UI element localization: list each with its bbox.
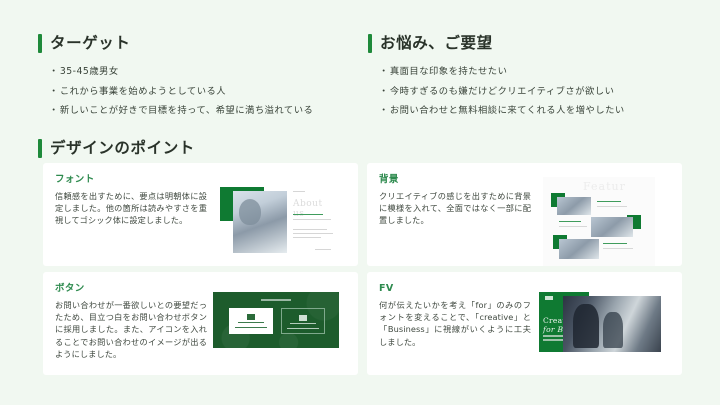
- card-title: FV: [379, 284, 531, 294]
- mockup-line: [238, 322, 264, 323]
- mockup-line: [315, 249, 331, 250]
- card-text-block: FV 何が伝えたいかを考え「for」のみのフォントを変えることで、「creati…: [379, 284, 531, 375]
- card-thumbnail: Featur: [535, 175, 682, 266]
- mockup-line: [597, 201, 621, 202]
- card-title: フォント: [55, 175, 207, 185]
- accent-bar-icon: [368, 34, 372, 53]
- mockup-line: [293, 237, 321, 238]
- design-points-title: デザインのポイント: [50, 141, 195, 157]
- card-body: 信頼感を出すために、要点は明朝体に設定しました。他の箇所は読みやすさを重視してゴ…: [55, 190, 207, 227]
- mockup-line: [287, 328, 319, 329]
- card-thumbnail: [211, 284, 358, 375]
- design-card-fv: FV 何が伝えたいかを考え「for」のみのフォントを変えることで、「creati…: [367, 272, 682, 375]
- feature-section-mockup-image: Featur: [543, 177, 655, 266]
- target-heading: ターゲット: [38, 34, 368, 53]
- target-title: ターゲット: [50, 36, 131, 52]
- mail-icon: [247, 314, 255, 320]
- mockup-line: [293, 214, 323, 215]
- mockup-line: [290, 323, 316, 324]
- mockup-photo: [563, 296, 661, 352]
- mockup-line: [261, 299, 291, 301]
- accent-bar-icon: [38, 139, 42, 158]
- mockup-line: [559, 226, 587, 227]
- concerns-heading: お悩み、ご要望: [368, 34, 686, 53]
- slide-canvas: ターゲット 35-45歳男女 これから事業を始めようとしている人 新しいことが好…: [0, 0, 720, 405]
- mockup-line: [559, 221, 581, 222]
- mockup-logo: [545, 296, 553, 300]
- card-text-block: フォント 信頼感を出すために、要点は明朝体に設定しました。他の箇所は読みやすさを…: [55, 175, 207, 266]
- first-view-mockup-image: Creative for Business: [535, 288, 663, 356]
- card-body: クリエイティブの感じを出すために背景に模様を入れて、全面ではなく一部に配置しまし…: [379, 190, 531, 227]
- design-card-font: フォント 信頼感を出すために、要点は明朝体に設定しました。他の箇所は読みやすさを…: [43, 163, 358, 266]
- about-us-mockup-image: About us: [215, 181, 337, 259]
- mockup-photo: [559, 239, 599, 259]
- mockup-heading-text: Featur: [583, 180, 626, 193]
- list-item: 35-45歳男女: [49, 66, 368, 79]
- mockup-photo: [591, 217, 633, 237]
- design-card-background: 背景 クリエイティブの感じを出すために背景に模様を入れて、全面ではなく一部に配置…: [367, 163, 682, 266]
- mockup-line: [603, 248, 633, 249]
- card-title: ボタン: [55, 284, 207, 294]
- top-sections: ターゲット 35-45歳男女 これから事業を始めようとしている人 新しいことが好…: [38, 34, 686, 125]
- mockup-line: [293, 233, 333, 234]
- mockup-line: [293, 219, 331, 220]
- accent-bar-icon: [38, 34, 42, 53]
- concerns-section: お悩み、ご要望 真面目な印象を持たせたい 今時すぎるのも嫌だけどクリエイティブさ…: [368, 34, 686, 125]
- mockup-line: [597, 206, 627, 207]
- list-item: これから事業を始めようとしている人: [49, 86, 368, 99]
- design-points-grid: フォント 信頼感を出すために、要点は明朝体に設定しました。他の箇所は読みやすさを…: [43, 163, 682, 375]
- card-thumbnail: Creative for Business: [535, 284, 682, 375]
- mockup-line: [293, 191, 305, 192]
- list-item: 今時すぎるのも嫌だけどクリエイティブさが欲しい: [379, 86, 686, 99]
- target-section: ターゲット 35-45歳男女 これから事業を始めようとしている人 新しいことが好…: [38, 34, 368, 125]
- concerns-bullet-list: 真面目な印象を持たせたい 今時すぎるのも嫌だけどクリエイティブさが欲しい お問い…: [379, 66, 686, 118]
- mockup-line: [235, 327, 267, 328]
- cta-buttons-mockup-image: [213, 292, 339, 348]
- list-item: 新しいことが好きで目標を持って、希望に満ち溢れている: [49, 105, 368, 118]
- mockup-line: [293, 229, 327, 230]
- mockup-primary-button: [229, 308, 273, 334]
- concerns-title: お悩み、ご要望: [380, 36, 493, 52]
- mockup-photo: [557, 197, 591, 215]
- document-icon: [299, 315, 307, 321]
- mockup-photo: [233, 191, 287, 253]
- target-bullet-list: 35-45歳男女 これから事業を始めようとしている人 新しいことが好きで目標を持…: [49, 66, 368, 118]
- card-text-block: ボタン お問い合わせが一番欲しいとの要望だったため、目立つ白をお問い合わせボタン…: [55, 284, 207, 375]
- card-body: 何が伝えたいかを考え「for」のみのフォントを変えることで、「creative」…: [379, 299, 531, 349]
- mockup-secondary-button: [281, 308, 325, 334]
- card-title: 背景: [379, 175, 531, 185]
- list-item: 真面目な印象を持たせたい: [379, 66, 686, 79]
- design-points-heading: デザインのポイント: [38, 139, 195, 158]
- mockup-line: [603, 243, 627, 244]
- card-thumbnail: About us: [211, 175, 358, 266]
- mockup-heading-text: About us: [293, 199, 337, 219]
- list-item: お問い合わせと無料相談に来てくれる人を増やしたい: [379, 105, 686, 118]
- card-text-block: 背景 クリエイティブの感じを出すために背景に模様を入れて、全面ではなく一部に配置…: [379, 175, 531, 266]
- design-card-button: ボタン お問い合わせが一番欲しいとの要望だったため、目立つ白をお問い合わせボタン…: [43, 272, 358, 375]
- card-body: お問い合わせが一番欲しいとの要望だったため、目立つ白をお問い合わせボタンに採用し…: [55, 299, 207, 361]
